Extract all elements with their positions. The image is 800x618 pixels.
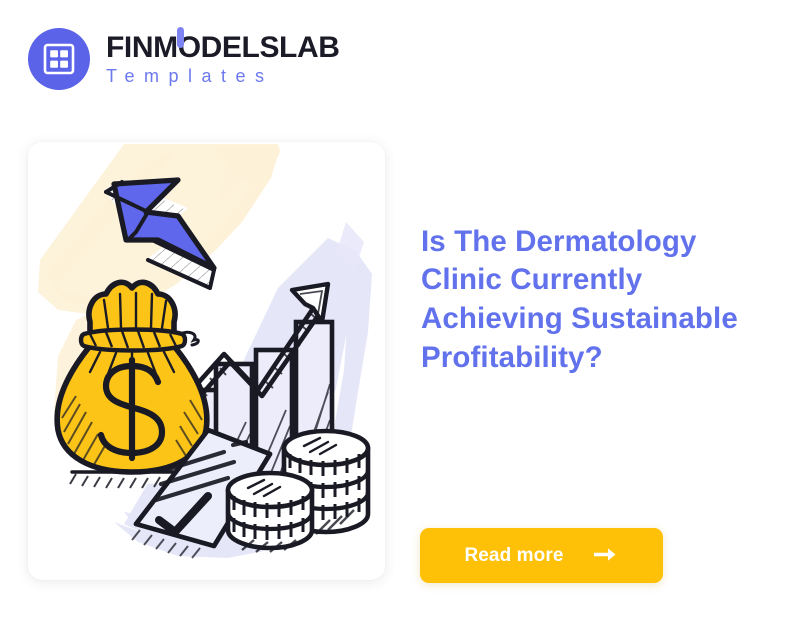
brand-wordmark-text: FINMODELSLAB xyxy=(106,31,340,64)
finmodelslab-logo-mark[interactable] xyxy=(28,28,90,90)
grid-squares-icon xyxy=(42,42,76,76)
read-more-button[interactable]: Read more xyxy=(420,528,663,583)
promo-card-page: FINMODELSLAB Templates xyxy=(0,0,800,618)
arrow-right-icon xyxy=(594,547,619,565)
brand-subtitle: Templates xyxy=(106,66,340,88)
illustration-card xyxy=(28,142,385,580)
droplet-accent-icon xyxy=(177,27,184,48)
coin-stack-short xyxy=(228,473,312,548)
brand-text-block: FINMODELSLAB Templates xyxy=(106,30,340,87)
brand-header[interactable]: FINMODELSLAB Templates xyxy=(28,28,340,90)
read-more-label: Read more xyxy=(464,545,563,567)
finance-doodle-illustration xyxy=(28,142,385,580)
brand-wordmark: FINMODELSLAB xyxy=(106,32,340,64)
page-title: Is The Dermatology Clinic Currently Achi… xyxy=(421,223,769,378)
